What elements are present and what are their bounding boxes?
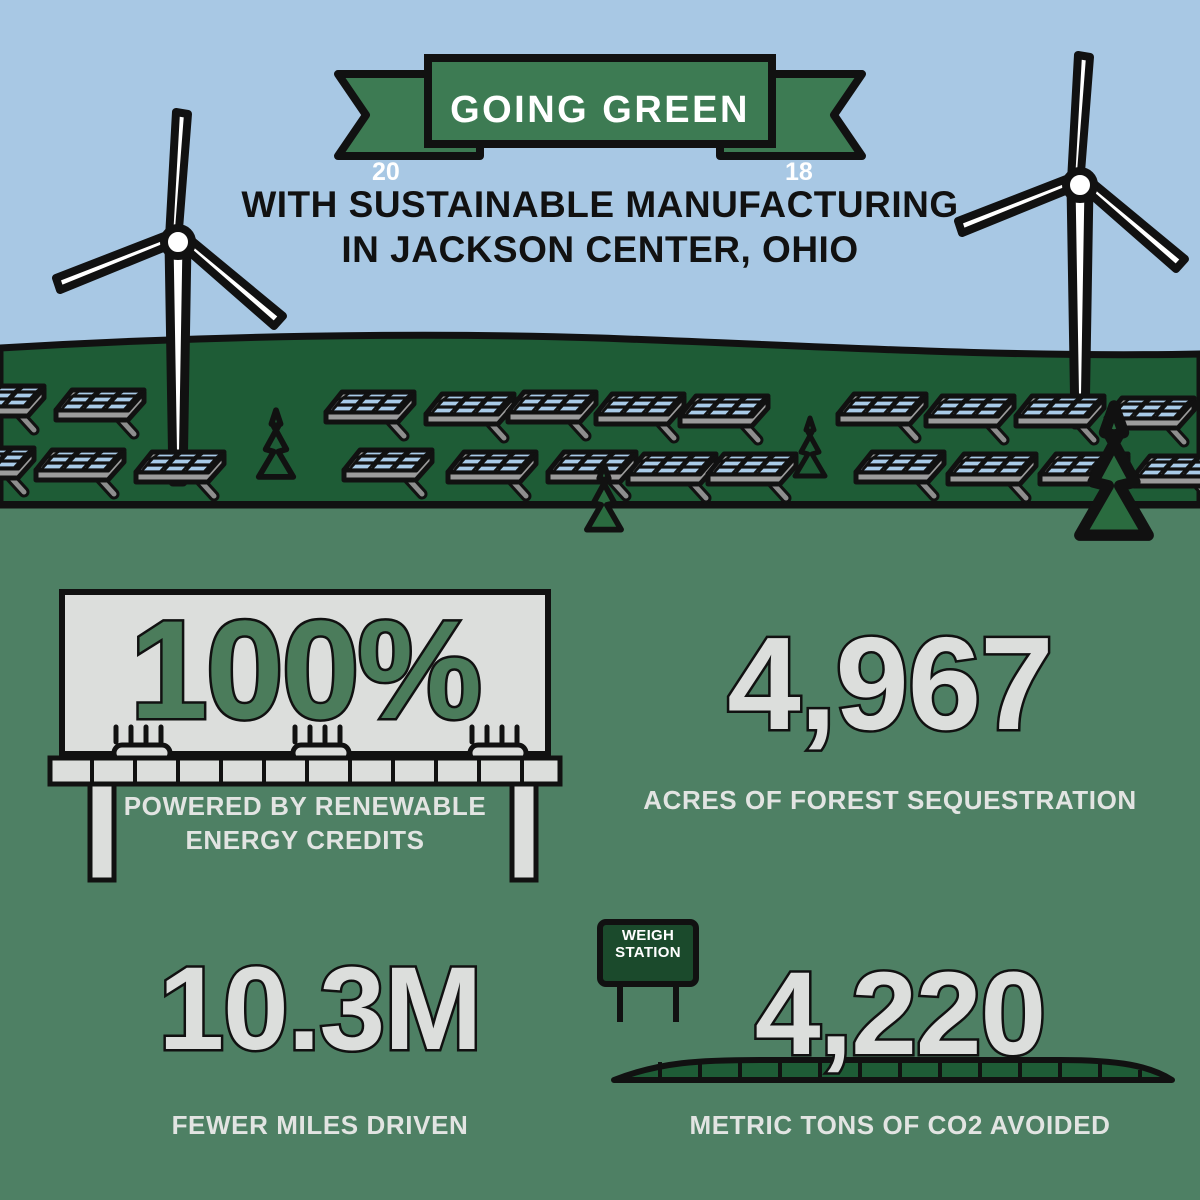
infographic-canvas: GOING GREEN 20 18 WITH SUSTAINABLE MANUF… [0, 0, 1200, 1200]
weigh-station-label: WEIGH STATION [603, 928, 693, 962]
stat-billboard-value: 100% [62, 600, 548, 740]
stat-miles-value: 10.3M [60, 950, 580, 1068]
headline-line-2: IN JACKSON CENTER, OHIO [0, 227, 1200, 272]
banner-ribbon: GOING GREEN 20 18 [330, 52, 870, 172]
weigh-station-line-2: STATION [603, 945, 693, 962]
stat-billboard-caption-line-1: POWERED BY RENEWABLE [52, 790, 558, 824]
weigh-station-line-1: WEIGH [603, 928, 693, 945]
stat-acres-value: 4,967 [600, 618, 1180, 750]
stat-billboard-caption-line-2: ENERGY CREDITS [52, 824, 558, 858]
stat-miles-caption: FEWER MILES DRIVEN [60, 1110, 580, 1141]
headline-line-1: WITH SUSTAINABLE MANUFACTURING [0, 182, 1200, 227]
stat-billboard-caption: POWERED BY RENEWABLE ENERGY CREDITS [52, 790, 558, 858]
headline: WITH SUSTAINABLE MANUFACTURING IN JACKSO… [0, 182, 1200, 272]
stat-co2-value: 4,220 [640, 955, 1160, 1073]
stat-co2-caption: METRIC TONS OF CO2 AVOIDED [620, 1110, 1180, 1141]
stat-acres-caption: ACRES OF FOREST SEQUESTRATION [600, 785, 1180, 816]
